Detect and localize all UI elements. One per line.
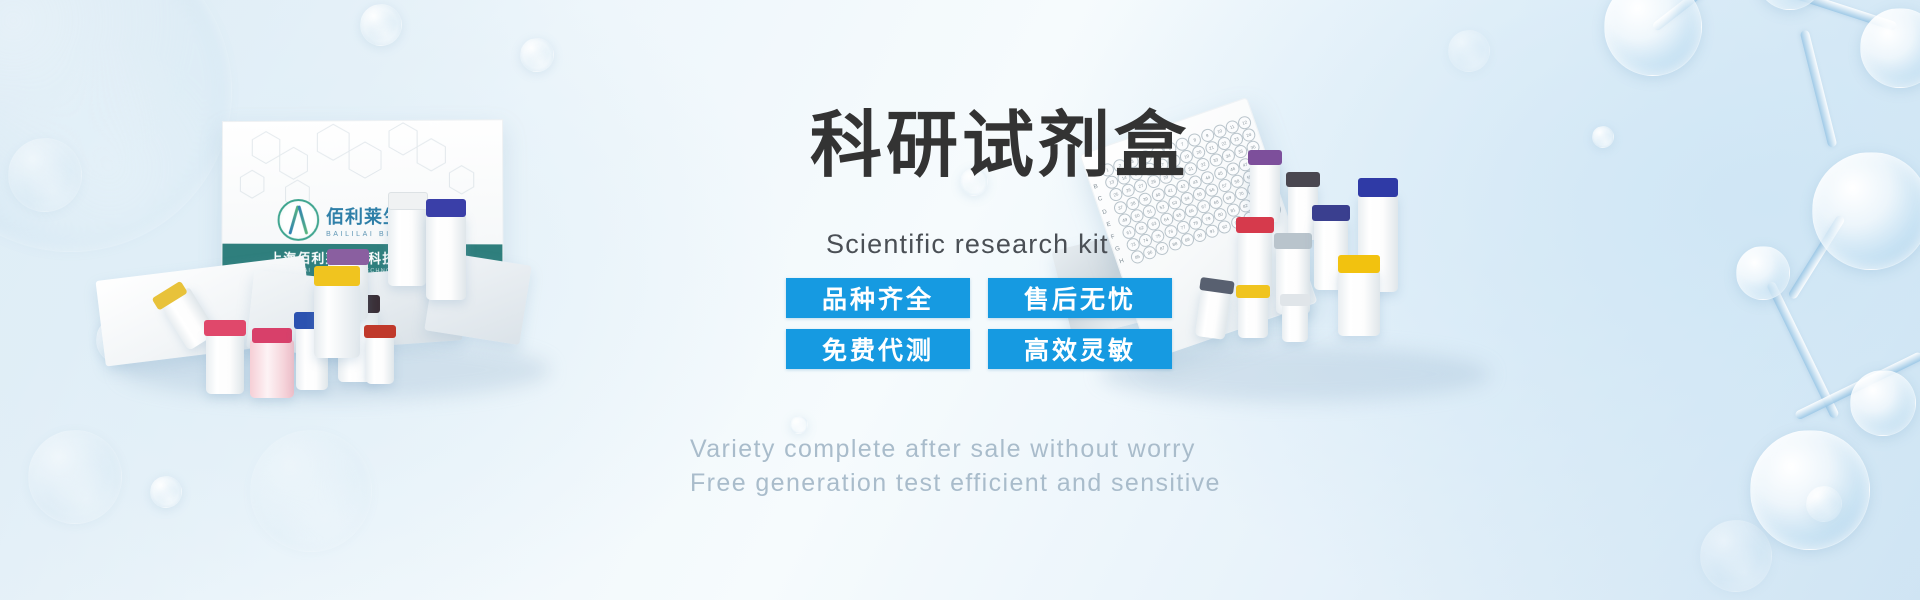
tagline-line-1: Variety complete after sale without worr… <box>690 432 1221 466</box>
badge-row: 免费代测 高效灵敏 <box>786 329 1172 369</box>
banner-copy: 科研试剂盒 Scientific research kit 品种齐全 售后无忧 … <box>0 0 1920 600</box>
badge-row: 品种齐全 售后无忧 <box>786 278 1172 318</box>
feature-badges: 品种齐全 售后无忧 免费代测 高效灵敏 <box>786 278 1172 380</box>
page-subtitle: Scientific research kit <box>826 228 1109 260</box>
badge-after-sale[interactable]: 售后无忧 <box>988 278 1172 318</box>
tagline-line-2: Free generation test efficient and sensi… <box>690 466 1221 500</box>
hero-banner: 佰利莱生物 BAILILAI BIOLOGY 上海佰利莱生物科技有限公司 SHA… <box>0 0 1920 600</box>
badge-variety-complete[interactable]: 品种齐全 <box>786 278 970 318</box>
tagline: Variety complete after sale without worr… <box>690 432 1221 500</box>
badge-free-test[interactable]: 免费代测 <box>786 329 970 369</box>
badge-high-sensitivity[interactable]: 高效灵敏 <box>988 329 1172 369</box>
page-title: 科研试剂盒 <box>810 106 1190 184</box>
